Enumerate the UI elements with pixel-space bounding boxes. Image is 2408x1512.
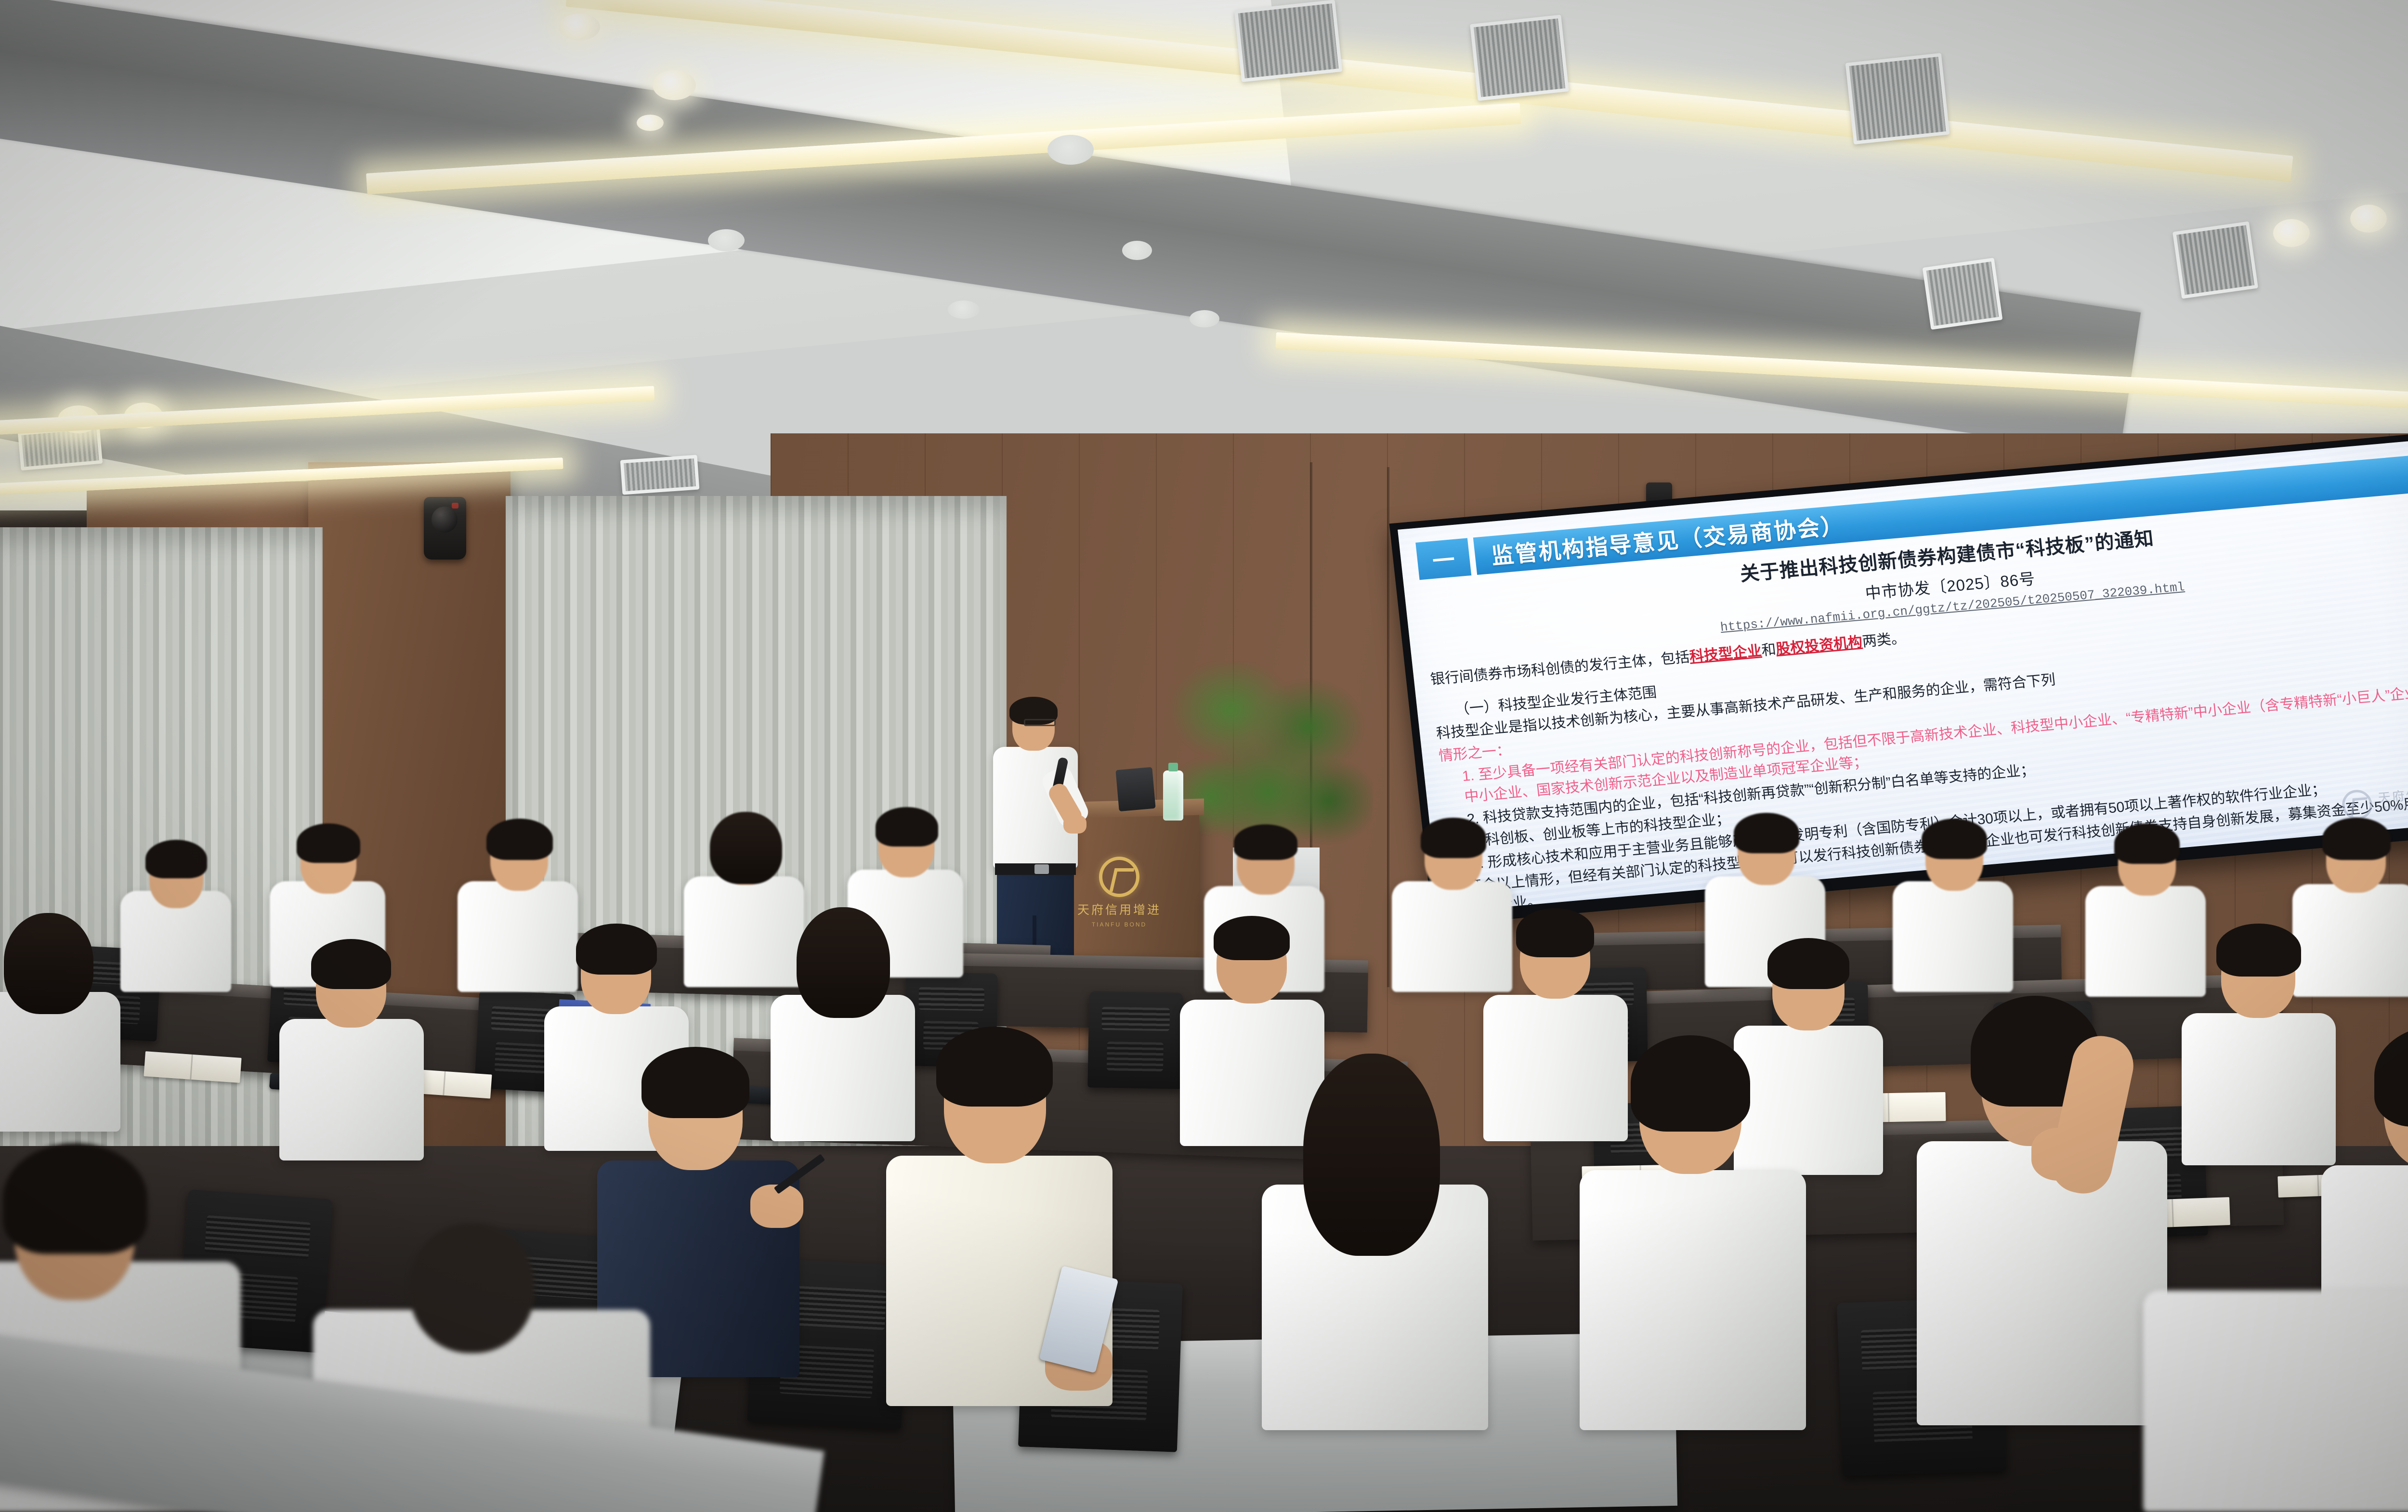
- attendee: [120, 833, 231, 992]
- ceiling-downlight-icon: [948, 300, 980, 319]
- attendee-stretching: [1917, 992, 2167, 1425]
- ceiling-downlight-icon: [1047, 135, 1094, 165]
- ceiling-downlight-icon: [708, 229, 745, 251]
- ceiling-downlight-icon: [637, 115, 664, 131]
- glasses-icon: [1024, 719, 1056, 726]
- conference-room-photo: 一 监管机构指导意见（交易商协会） 关于推出科技创新债券构建债市“科技板”的通知…: [0, 0, 2408, 1512]
- attendee: [1893, 814, 2013, 992]
- ceiling-downlight-icon: [653, 70, 696, 100]
- ceiling-downlight-icon: [559, 13, 600, 40]
- ceiling-downlight-icon: [2273, 219, 2310, 247]
- attendee: [1580, 1030, 1806, 1430]
- ceiling-downlight-icon: [1190, 310, 1219, 327]
- presenter-hand: [1063, 815, 1086, 834]
- water-bottle: [1163, 770, 1183, 821]
- attendee: [1262, 1050, 1488, 1430]
- podium-monitor: [1115, 767, 1155, 811]
- presenter-belt: [995, 863, 1076, 875]
- slide-section-number: 一: [1415, 538, 1471, 580]
- attendee: [0, 905, 120, 1132]
- hvac-vent-icon: [1234, 0, 1343, 82]
- hvac-vent-icon: [1923, 258, 2003, 330]
- lead-highlight-2: 股权投资机构: [1775, 634, 1863, 657]
- ceiling-downlight-icon: [1122, 241, 1152, 260]
- attendee: [279, 929, 424, 1160]
- hvac-vent-icon: [620, 455, 700, 495]
- lead-middle: 和: [1761, 641, 1777, 658]
- wall-seam: [1387, 467, 1389, 987]
- security-camera-icon: [424, 497, 466, 560]
- attendee-hand: [2031, 1128, 2099, 1181]
- lead-suffix: 两类。: [1861, 630, 1906, 650]
- ceiling-downlight-icon: [2350, 205, 2387, 233]
- tianfu-logo-icon: [1099, 857, 1139, 897]
- hvac-vent-icon: [2172, 222, 2258, 299]
- attendee: [2182, 915, 2336, 1165]
- lead-highlight-1: 科技型企业: [1688, 643, 1762, 665]
- hvac-vent-icon: [1845, 53, 1950, 144]
- hvac-vent-icon: [1470, 15, 1569, 101]
- attendee-foreground: [2143, 1204, 2408, 1512]
- podium-logo-en: TIANFU BOND: [1092, 921, 1147, 928]
